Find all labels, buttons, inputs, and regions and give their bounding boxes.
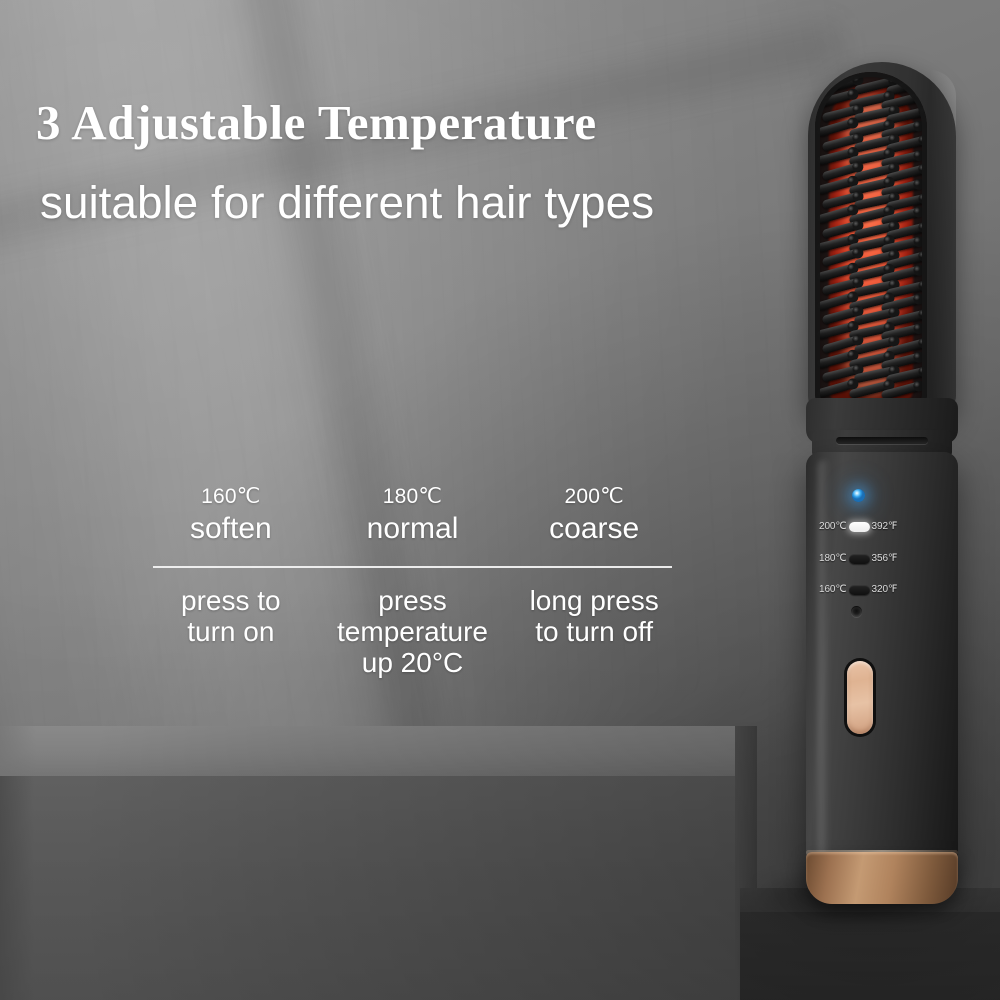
temp-scale-celsius: 160℃ — [819, 584, 847, 595]
instruction-row: press to turn on press temperature up 20… — [140, 585, 685, 679]
brush-head-plate-cavity — [815, 72, 927, 412]
charging-port[interactable] — [851, 606, 862, 617]
brush-bristle-field — [815, 72, 927, 412]
handle-highlight — [818, 460, 830, 860]
instruction-turn-on: press to turn on — [140, 585, 322, 648]
temperature-column-soften: 160℃ soften — [140, 484, 322, 549]
page-title: 3 Adjustable Temperature — [36, 98, 756, 147]
temperature-column-coarse: 200℃ coarse — [503, 484, 685, 549]
page-subtitle: suitable for different hair types — [40, 180, 795, 225]
temp-scale-pill-active — [849, 522, 870, 532]
temperature-value: 160℃ — [140, 484, 322, 510]
temperature-column-normal: 180℃ normal — [322, 484, 504, 549]
temp-scale-celsius: 200℃ — [819, 521, 847, 532]
temp-scale-row-160: 160℃ 320℉ — [819, 584, 897, 595]
section-divider — [153, 566, 672, 568]
hair-type-label: coarse — [503, 510, 685, 548]
brush-head-highlight — [930, 70, 956, 420]
instruction-turn-off: long press to turn off — [503, 585, 685, 648]
temp-scale-row-200: 200℃ 392℉ — [819, 521, 897, 532]
product-marketing-image: 3 Adjustable Temperature suitable for di… — [0, 0, 1000, 1000]
temp-scale-pill — [849, 554, 870, 564]
temperature-value: 200℃ — [503, 484, 685, 510]
temp-scale-fahrenheit: 320℉ — [872, 584, 898, 595]
temp-scale-fahrenheit: 392℉ — [872, 521, 898, 532]
power-button[interactable] — [847, 661, 873, 734]
power-led-indicator — [852, 489, 865, 502]
base-cap — [806, 852, 958, 904]
instruction-temp-up: press temperature up 20°C — [322, 585, 504, 679]
temperature-header-row: 160℃ soften 180℃ normal 200℃ coarse — [140, 484, 685, 549]
temperature-value: 180℃ — [322, 484, 504, 510]
temp-scale-fahrenheit: 356℉ — [872, 553, 898, 564]
temp-scale-pill — [849, 585, 870, 595]
temp-scale-celsius: 180℃ — [819, 553, 847, 564]
hair-type-label: normal — [322, 510, 504, 548]
temperature-spec-table: 160℃ soften 180℃ normal 200℃ coarse pres… — [140, 484, 685, 679]
hair-type-label: soften — [140, 510, 322, 548]
air-vent-slot — [836, 437, 928, 444]
temp-scale-row-180: 180℃ 356℉ — [819, 553, 897, 564]
